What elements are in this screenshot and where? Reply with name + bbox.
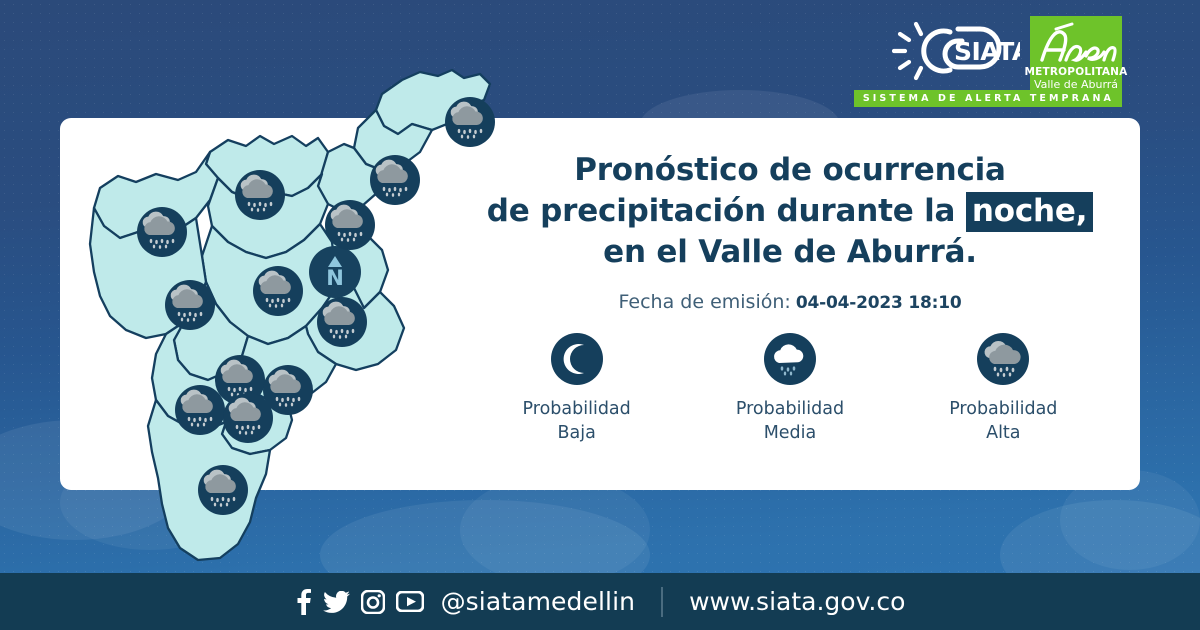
marker-barbosa[interactable] [445,97,495,147]
headline-line-2: de precipitación durante la noche, [440,191,1140,232]
legend-label-alta-line2: Alta [949,422,1057,446]
issue-date-row: Fecha de emisión: 04-04-2023 18:10 [440,291,1140,313]
siata-logo: SIATA [892,16,1020,88]
legend-label-baja: Probabilidad Baja [523,398,631,445]
instagram-icon[interactable] [361,590,385,614]
legend-label-media-line2: Media [736,422,844,446]
headline-highlight: noche, [966,192,1093,232]
issue-date-value: 04-04-2023 18:10 [796,293,962,313]
marker-girardota[interactable] [370,155,420,205]
tagline-bar: SISTEMA DE ALERTA TEMPRANA [854,90,1122,107]
footer-bar: @siatamedellin www.siata.gov.co [0,573,1200,630]
marker-san-pedro-de-los-milagros[interactable] [235,170,285,220]
marker-san-jeronimo[interactable] [137,207,187,257]
marker-la-estrella[interactable] [175,385,225,435]
moon-icon [551,333,603,385]
legend-label-media-line1: Probabilidad [736,398,844,422]
marker-bello[interactable] [253,266,303,316]
social-handle[interactable]: @siatamedellin [441,587,635,616]
area-script-icon [1030,20,1122,68]
headline-line-1: Pronóstico de ocurrencia [440,150,1140,191]
marker-copacabana[interactable] [325,200,375,250]
headline-block: Pronóstico de ocurrencia de precipitació… [440,150,1140,313]
legend-label-media: Probabilidad Media [736,398,844,445]
cloud-rain-icon [977,333,1029,385]
legend-item-alta: Probabilidad Alta [913,333,1093,445]
social-icons [295,589,424,615]
compass-rose: N [309,246,361,298]
legend-label-alta: Probabilidad Alta [949,398,1057,445]
website-link[interactable]: www.siata.gov.co [689,587,905,616]
marker-ebejico[interactable] [165,280,215,330]
area-metropolitana-logo: METROPOLITANA Valle de Aburrá [1030,16,1122,96]
twitter-icon[interactable] [323,591,350,613]
legend: Probabilidad Baja Probabilidad Media [470,333,1110,445]
legend-item-baja: Probabilidad Baja [487,333,667,445]
legend-item-media: Probabilidad Media [700,333,880,445]
legend-label-baja-line2: Baja [523,422,631,446]
valle-de-aburra-map: N [60,60,490,580]
marker-caldas[interactable] [198,465,248,515]
youtube-icon[interactable] [396,591,424,612]
cloud-moon-rain-icon [764,333,816,385]
svg-text:SIATA: SIATA [954,37,1020,66]
headline-line-3: en el Valle de Aburrá. [440,232,1140,273]
map-regions [90,70,490,560]
facebook-icon[interactable] [295,589,312,615]
compass-label: N [326,266,344,290]
logo-group: SIATA METROPOLITANA Valle de Aburrá [892,16,1122,96]
issue-date-label: Fecha de emisión: [619,291,791,313]
marker-envigado[interactable] [263,365,313,415]
legend-label-baja-line1: Probabilidad [523,398,631,422]
marker-medellin[interactable] [317,297,367,347]
legend-label-alta-line1: Probabilidad [949,398,1057,422]
headline-line-2-text: de precipitación durante la [487,193,966,229]
footer-divider [661,587,663,617]
